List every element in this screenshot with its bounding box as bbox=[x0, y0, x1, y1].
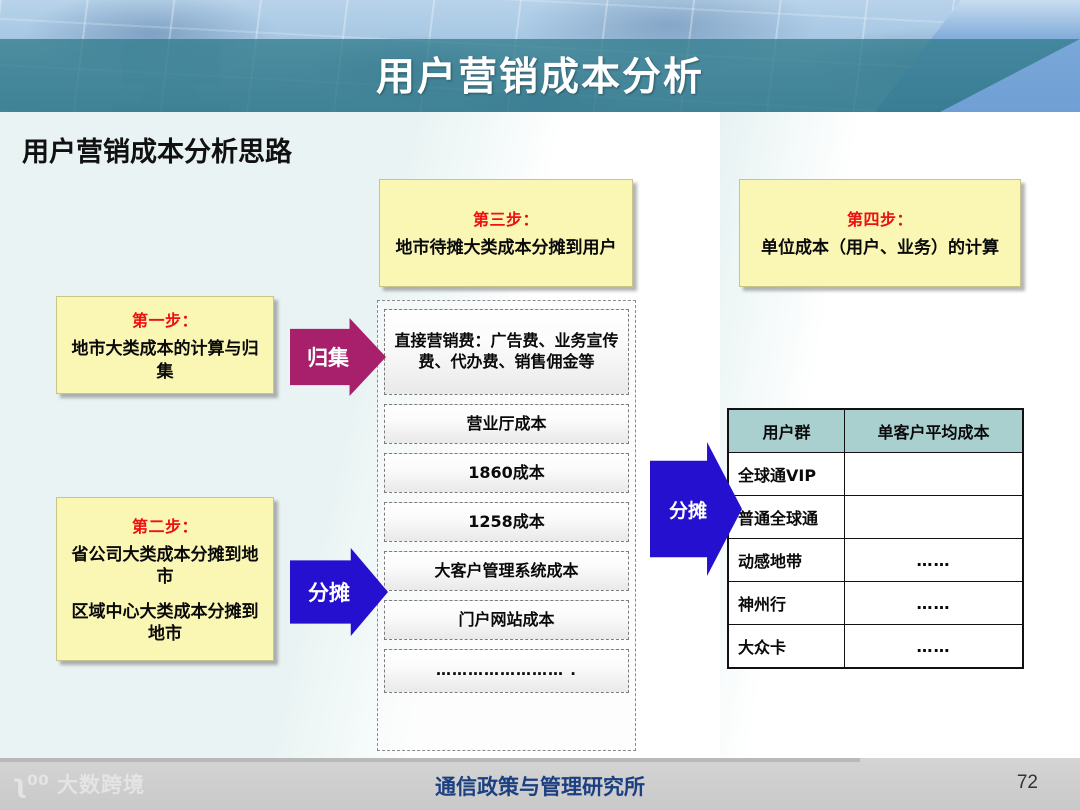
table-cell-group-4: 神州行 bbox=[728, 582, 845, 625]
table-row[interactable]: 普通全球通 bbox=[728, 496, 1023, 539]
cost-item-list: 直接营销费：广告费、业务宣传费、代办费、销售佣金等 营业厅成本 1860成本 1… bbox=[377, 300, 636, 751]
table-cell-group-2: 普通全球通 bbox=[728, 496, 845, 539]
step-3-title: 第三步： bbox=[473, 206, 539, 230]
table-cell-value-3: …… bbox=[845, 539, 1024, 582]
table-cell-value-5: …… bbox=[845, 625, 1024, 669]
table-row[interactable]: 全球通VIP bbox=[728, 453, 1023, 496]
step-box-1[interactable]: 第一步： 地市大类成本的计算与归集 bbox=[56, 296, 274, 394]
table-cell-value-2 bbox=[845, 496, 1024, 539]
cost-item-1258[interactable]: 1258成本 bbox=[384, 502, 629, 542]
step-4-title: 第四步： bbox=[847, 206, 913, 230]
step-box-3[interactable]: 第三步： 地市待摊大类成本分摊到用户 bbox=[379, 179, 633, 287]
step-4-body: 单位成本（用户、业务）的计算 bbox=[753, 237, 1007, 259]
page-number: 72 bbox=[1017, 772, 1038, 794]
step-box-4[interactable]: 第四步： 单位成本（用户、业务）的计算 bbox=[739, 179, 1021, 287]
cost-item-1860[interactable]: 1860成本 bbox=[384, 453, 629, 493]
table-header-customer-group: 用户群 bbox=[728, 409, 845, 453]
table-cell-value-1 bbox=[845, 453, 1024, 496]
step-1-body: 地市大类成本的计算与归集 bbox=[57, 338, 273, 383]
table-cell-group-3: 动感地带 bbox=[728, 539, 845, 582]
footer-organization: 通信政策与管理研究所 bbox=[0, 771, 1080, 801]
cost-item-business-hall[interactable]: 营业厅成本 bbox=[384, 404, 629, 444]
table-row[interactable]: 神州行 …… bbox=[728, 582, 1023, 625]
arrow-allocate-right-label: 分摊 bbox=[669, 496, 707, 523]
arrow-allocate-left-label: 分摊 bbox=[308, 577, 350, 607]
step-1-title: 第一步： bbox=[132, 307, 198, 331]
section-subtitle: 用户营销成本分析思路 bbox=[22, 130, 292, 169]
slide-footer: ʅ⁰⁰ 大数跨境 通信政策与管理研究所 72 bbox=[0, 758, 1080, 810]
table-cell-value-4: …… bbox=[845, 582, 1024, 625]
table-cell-group-1: 全球通VIP bbox=[728, 453, 845, 496]
cost-item-key-account-system[interactable]: 大客户管理系统成本 bbox=[384, 551, 629, 591]
slide-canvas: 用户营销成本分析 用户营销成本分析思路 第一步： 地市大类成本的计算与归集 第二… bbox=[0, 0, 1080, 810]
cost-item-portal-website[interactable]: 门户网站成本 bbox=[384, 600, 629, 640]
cost-item-direct-marketing[interactable]: 直接营销费：广告费、业务宣传费、代办费、销售佣金等 bbox=[384, 309, 629, 395]
arrow-collect-label: 归集 bbox=[307, 342, 349, 372]
cost-item-ellipsis[interactable]: …………………… . bbox=[384, 649, 629, 693]
table-header-avg-cost: 单客户平均成本 bbox=[845, 409, 1024, 453]
step-2-body-line-2: 区域中心大类成本分摊到地市 bbox=[57, 601, 273, 646]
table-header-row: 用户群 单客户平均成本 bbox=[728, 409, 1023, 453]
table-row[interactable]: 动感地带 …… bbox=[728, 539, 1023, 582]
step-2-title: 第二步： bbox=[132, 513, 198, 537]
step-2-body-line-1: 省公司大类成本分摊到地市 bbox=[57, 544, 273, 589]
customer-cost-table: 用户群 单客户平均成本 全球通VIP 普通全球通 动感地带 …… 神州行 …… bbox=[727, 408, 1024, 669]
footer-top-divider bbox=[0, 758, 860, 762]
table-row[interactable]: 大众卡 …… bbox=[728, 625, 1023, 669]
step-3-body: 地市待摊大类成本分摊到用户 bbox=[388, 237, 625, 259]
step-box-2[interactable]: 第二步： 省公司大类成本分摊到地市 区域中心大类成本分摊到地市 bbox=[56, 497, 274, 661]
table-cell-group-5: 大众卡 bbox=[728, 625, 845, 669]
page-title: 用户营销成本分析 bbox=[0, 46, 1080, 102]
